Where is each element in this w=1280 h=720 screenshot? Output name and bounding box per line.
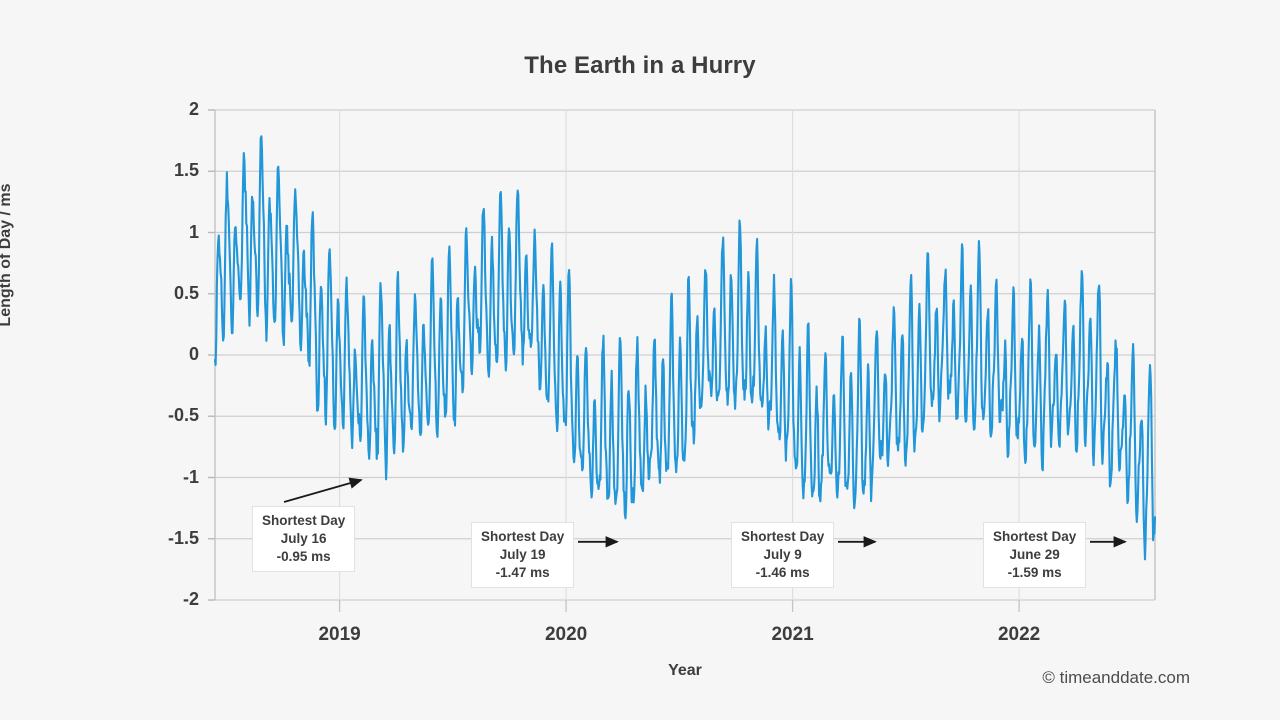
- annotation-title: Shortest Day: [741, 528, 824, 546]
- annotation-shortest-day-2019: Shortest DayJuly 16-0.95 ms: [252, 506, 355, 572]
- annotation-date: June 29: [993, 546, 1076, 564]
- y-tick-label: 0: [127, 344, 199, 365]
- x-tick-label: 2020: [506, 624, 626, 646]
- annotation-date: July 9: [741, 546, 824, 564]
- annotation-value: -1.47 ms: [481, 564, 564, 582]
- annotation-date: July 19: [481, 546, 564, 564]
- annotation-shortest-day-2021: Shortest DayJuly 9-1.46 ms: [731, 522, 834, 588]
- annotation-shortest-day-2022: Shortest DayJune 29-1.59 ms: [983, 522, 1086, 588]
- y-tick-label: 2: [127, 99, 199, 120]
- x-tick-label: 2022: [959, 624, 1079, 646]
- y-tick-label: -0.5: [127, 405, 199, 426]
- annotation-value: -1.46 ms: [741, 564, 824, 582]
- x-axis-title: Year: [215, 662, 1155, 680]
- y-tick-label: -1: [127, 467, 199, 488]
- annotation-shortest-day-2020: Shortest DayJuly 19-1.47 ms: [471, 522, 574, 588]
- y-tick-label: 0.5: [127, 283, 199, 304]
- x-tick-label: 2019: [280, 624, 400, 646]
- y-tick-label: 1: [127, 222, 199, 243]
- annotation-value: -1.59 ms: [993, 564, 1076, 582]
- chart-container: The Earth in a Hurry Length of Day / ms …: [0, 0, 1280, 720]
- y-tick-label: 1.5: [127, 160, 199, 181]
- annotation-date: July 16: [262, 530, 345, 548]
- credit-label: © timeanddate.com: [1042, 668, 1190, 688]
- annotation-value: -0.95 ms: [262, 548, 345, 566]
- annotation-title: Shortest Day: [481, 528, 564, 546]
- y-tick-label: -1.5: [127, 528, 199, 549]
- annotation-title: Shortest Day: [993, 528, 1076, 546]
- y-tick-label: -2: [127, 589, 199, 610]
- x-tick-label: 2021: [733, 624, 853, 646]
- data-series-line: [215, 136, 1155, 559]
- annotation-title: Shortest Day: [262, 512, 345, 530]
